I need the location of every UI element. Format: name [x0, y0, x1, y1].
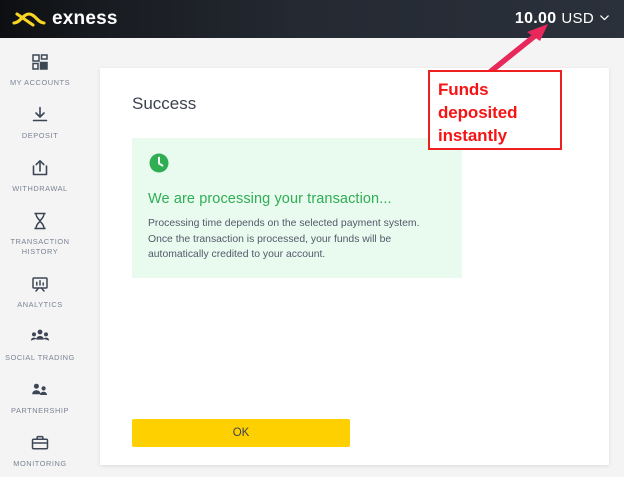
sidebar-item-label: MY ACCOUNTS — [10, 78, 70, 88]
hourglass-icon — [30, 211, 50, 231]
sidebar-item-label: TRANSACTION HISTORY — [0, 237, 80, 257]
sidebar-item-label: WITHDRAWAL — [12, 184, 67, 194]
brand-name: exness — [52, 8, 118, 30]
processing-alert: We are processing your transaction... Pr… — [132, 138, 462, 278]
people-group-icon — [30, 327, 50, 347]
sidebar-item-label: PARTNERSHIP — [11, 406, 69, 416]
sidebar-item-social-trading[interactable]: SOCIAL TRADING — [0, 327, 80, 363]
annotation-callout: Funds deposited instantly — [428, 70, 562, 150]
upload-share-icon — [30, 158, 50, 178]
alert-body-text: Processing time depends on the selected … — [148, 216, 444, 263]
sidebar-item-withdrawal[interactable]: WITHDRAWAL — [0, 158, 80, 194]
chart-board-icon — [30, 274, 50, 294]
app-root: exness 10.00 USD MY ACCOUNTS — [0, 0, 624, 477]
sidebar-item-label: ANALYTICS — [17, 300, 62, 310]
download-arrow-icon — [30, 105, 50, 125]
clock-icon — [148, 152, 446, 174]
sidebar-item-deposit[interactable]: DEPOSIT — [0, 105, 80, 141]
sidebar-item-partnership[interactable]: PARTNERSHIP — [0, 380, 80, 416]
sidebar-item-monitoring[interactable]: MONITORING — [0, 433, 80, 469]
exness-logo-icon — [12, 9, 46, 29]
brand[interactable]: exness — [0, 8, 118, 30]
sidebar-nav: MY ACCOUNTS DEPOSIT WITHDRAWAL — [0, 38, 80, 477]
briefcase-icon — [30, 433, 50, 453]
balance-currency: USD — [561, 10, 594, 27]
annotation-text: Funds deposited instantly — [438, 78, 560, 147]
sidebar-item-my-accounts[interactable]: MY ACCOUNTS — [0, 52, 80, 88]
grid-squares-icon — [30, 52, 50, 72]
sidebar-item-label: MONITORING — [13, 459, 66, 469]
sidebar-item-analytics[interactable]: ANALYTICS — [0, 274, 80, 310]
partnership-people-icon — [30, 380, 50, 400]
sidebar-item-transaction-history[interactable]: TRANSACTION HISTORY — [0, 211, 80, 257]
alert-heading: We are processing your transaction... — [148, 191, 446, 207]
arrow-up-right-icon — [484, 22, 556, 74]
ok-button[interactable]: OK — [132, 419, 350, 447]
sidebar-item-label: DEPOSIT — [22, 131, 58, 141]
sidebar-item-label: SOCIAL TRADING — [5, 353, 75, 363]
chevron-down-icon[interactable] — [599, 12, 610, 23]
page-title: Success — [132, 94, 196, 114]
